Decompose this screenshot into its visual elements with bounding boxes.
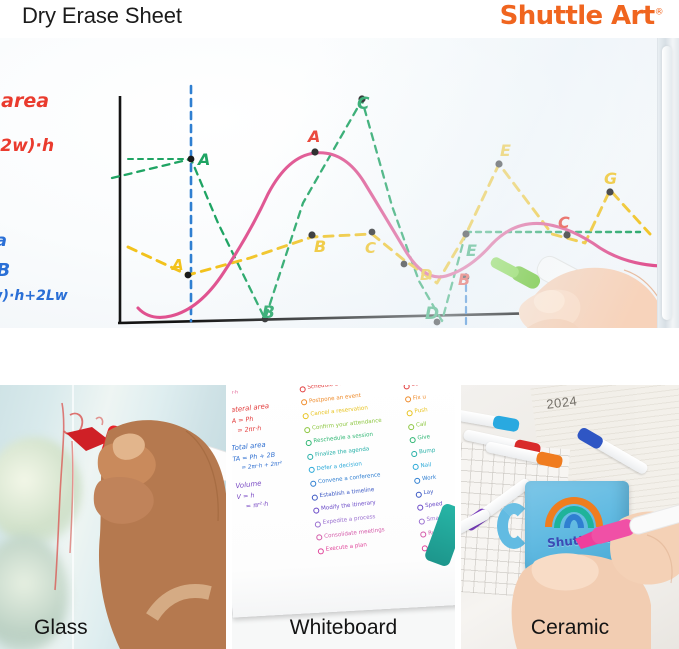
- wb-list-text: Work: [421, 472, 437, 487]
- planner-year-label: 2024: [546, 393, 579, 412]
- list-bullet-icon: [411, 450, 418, 457]
- list-bullet-icon: [304, 426, 311, 433]
- list-bullet-icon: [311, 494, 318, 501]
- list-bullet-icon: [408, 423, 415, 430]
- list-bullet-icon: [307, 453, 314, 460]
- panel-caption-glass: Glass: [34, 616, 88, 640]
- panel-caption-ceramic: Ceramic: [531, 616, 609, 640]
- wb-list-text: Call: [415, 418, 427, 433]
- list-bullet-icon: [301, 399, 308, 406]
- list-bullet-icon: [308, 467, 315, 474]
- list-bullet-icon: [313, 507, 320, 514]
- panel-glass[interactable]: ASE MARK Glass: [0, 385, 226, 649]
- use-occasion-panels: ASE MARK Glass =πr·h: [0, 385, 679, 649]
- wb-list-text: Nail: [420, 459, 432, 474]
- product-marketing-page: Dry Erase Sheet Shuttle Art® l area +2w)…: [0, 0, 679, 649]
- list-bullet-icon: [316, 534, 323, 541]
- hero-whiteboard-photo: l area +2w)·h ea 2B 2w)·h+2Lw: [0, 38, 679, 328]
- glass-hand: [94, 420, 226, 649]
- glass-scene: ASE MARK: [0, 385, 226, 649]
- board-frame-right: [657, 38, 679, 328]
- board-glare: [0, 38, 664, 328]
- list-bullet-icon: [420, 531, 427, 538]
- wb-list-text: Lay: [423, 486, 434, 501]
- page-header: Dry Erase Sheet Shuttle Art®: [0, 0, 679, 38]
- brand-logo: Shuttle Art®: [500, 1, 663, 31]
- whiteboard-formula-column: =πr·h Lateral area LA = Ph = 2πr·h Total…: [232, 385, 312, 512]
- list-bullet-icon: [310, 480, 317, 487]
- list-bullet-icon: [418, 518, 425, 525]
- list-bullet-icon: [405, 396, 412, 403]
- brand-logo-text: Shuttle Art: [500, 1, 655, 31]
- registered-trademark-icon: ®: [655, 7, 663, 17]
- section-title-band: WIDE USE OCCASIONS: [0, 328, 679, 385]
- whiteboard-sheet: =πr·h Lateral area LA = Ph = 2πr·h Total…: [232, 385, 455, 618]
- panel-ceramic[interactable]: 2024: [461, 385, 679, 649]
- list-bullet-icon: [412, 464, 419, 471]
- list-bullet-icon: [409, 437, 416, 444]
- list-bullet-icon: [403, 385, 410, 390]
- list-bullet-icon: [305, 440, 312, 447]
- rainbow-artwork: [545, 497, 603, 529]
- wb-list-text: Bump: [418, 445, 436, 460]
- list-bullet-icon: [414, 477, 421, 484]
- list-bullet-icon: [406, 410, 413, 417]
- list-bullet-icon: [417, 504, 424, 511]
- list-bullet-icon: [415, 491, 422, 498]
- list-bullet-icon: [302, 413, 309, 420]
- list-bullet-icon: [299, 386, 306, 393]
- panel-whiteboard[interactable]: =πr·h Lateral area LA = Ph = 2πr·h Total…: [232, 385, 455, 649]
- wb-list-text: Push: [414, 404, 429, 419]
- list-bullet-icon: [318, 548, 325, 555]
- panel-caption-whiteboard: Whiteboard: [290, 616, 397, 640]
- list-bullet-icon: [314, 521, 321, 528]
- page-title: Dry Erase Sheet: [22, 3, 182, 29]
